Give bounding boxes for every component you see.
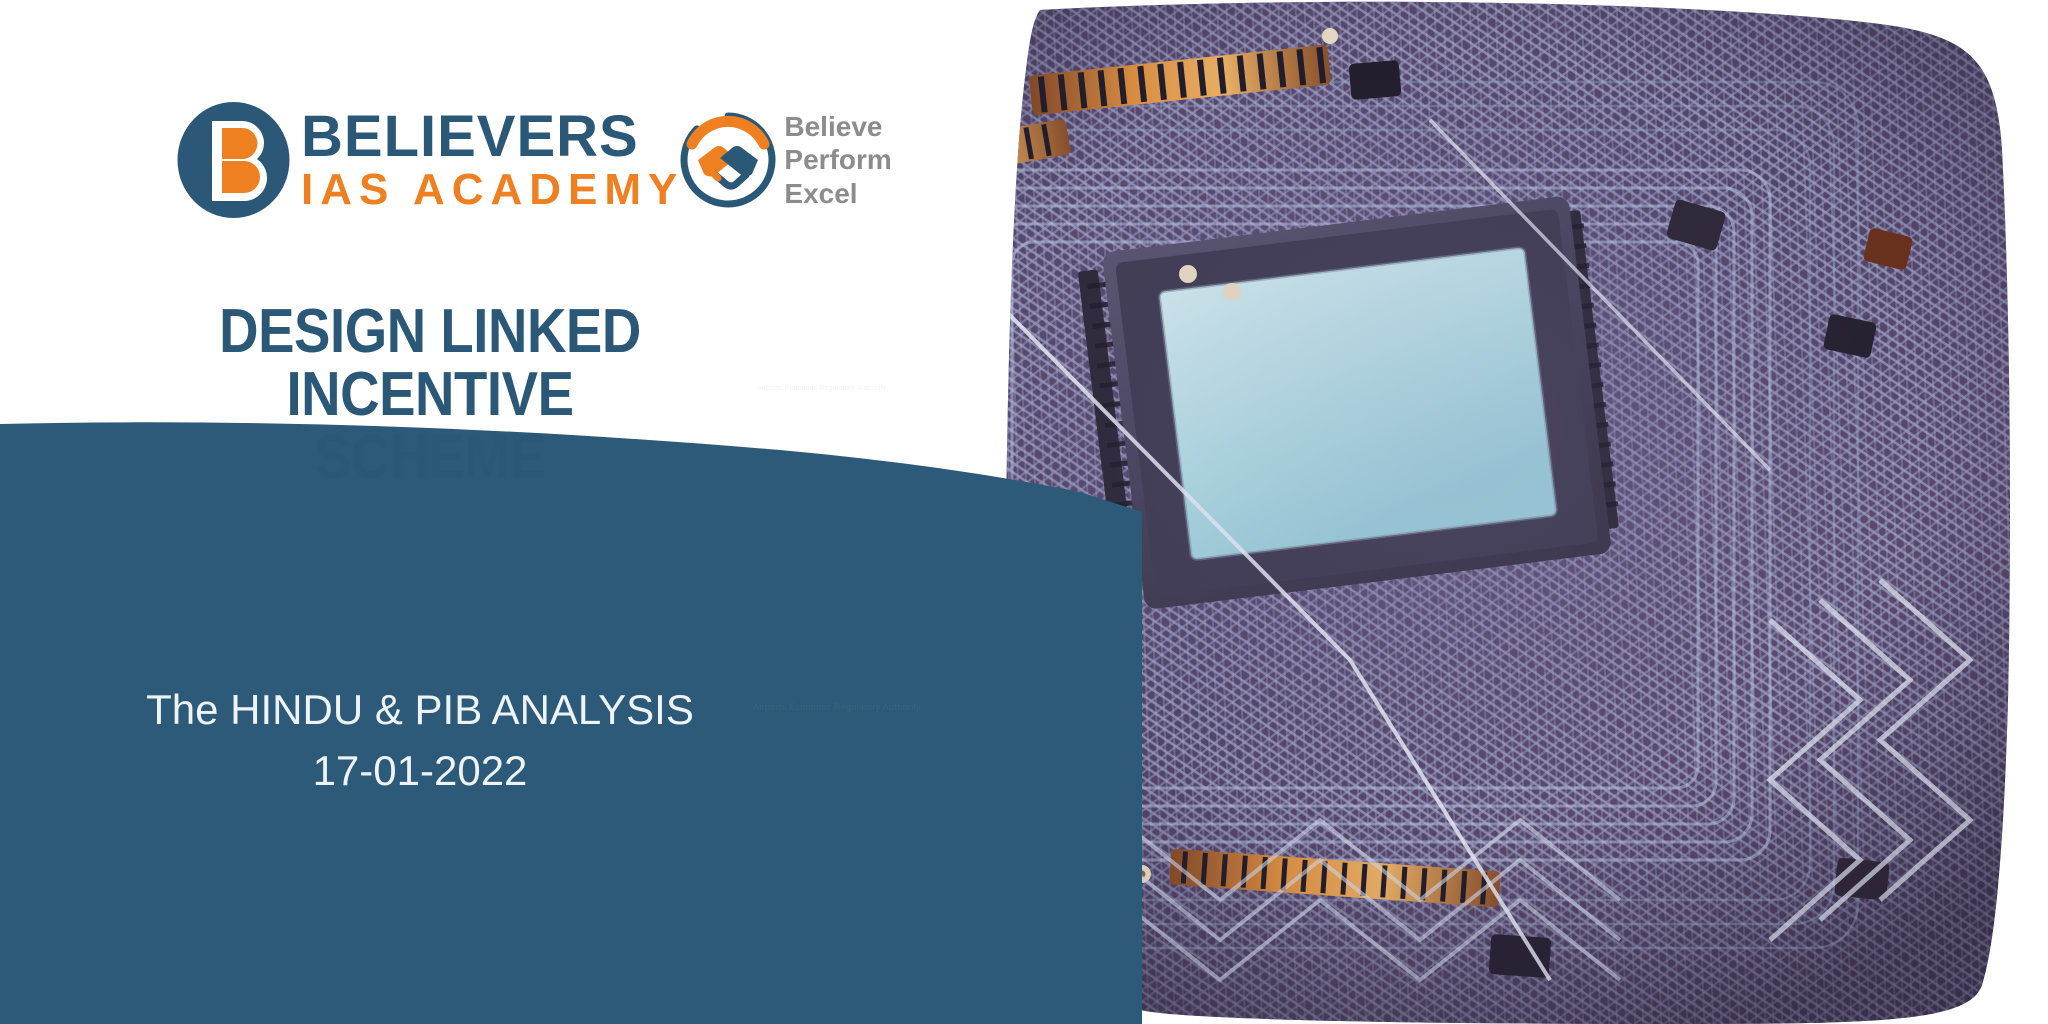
white-area-watermark-text: Airports Economic Regulatory Authority	[757, 385, 886, 392]
slide-title-line-1: DESIGN LINKED INCENTIVE	[104, 300, 755, 426]
logo-wordmark: BELIEVERS IAS ACADEMY	[301, 108, 684, 212]
circuit-board-image	[790, 0, 2048, 1024]
logo-name-secondary: IAS ACADEMY	[301, 168, 684, 212]
slide-canvas: INDIA CHINA RELATIONS BELIEVERS IAS ACAD…	[0, 0, 2048, 1024]
slide-title: DESIGN LINKED INCENTIVE SCHEME	[104, 300, 755, 490]
brand-logo: BELIEVERS IAS ACADEMY Believe Perform Ex…	[176, 100, 846, 220]
logo-tagline-line-3: Excel	[784, 177, 891, 210]
slide-title-line-2: SCHEME	[104, 426, 755, 489]
teal-area-watermark-text: Airports Economic Regulatory Authority	[753, 702, 921, 712]
logo-tagline-line-1: Believe	[784, 110, 891, 143]
handshake-icon	[678, 110, 778, 210]
subtitle-date-line: 17-01-2022	[40, 741, 800, 802]
logo-tagline: Believe Perform Excel	[784, 110, 891, 209]
subtitle-source-line: The HINDU & PIB ANALYSIS	[40, 680, 800, 741]
logo-name-primary: BELIEVERS	[301, 108, 684, 166]
board-watermark-text: INDIA CHINA RELATIONS	[1003, 505, 1106, 514]
slide-subtitle: The HINDU & PIB ANALYSIS 17-01-2022	[40, 680, 800, 802]
logo-tagline-line-2: Perform	[784, 143, 891, 176]
believers-monogram-icon	[176, 101, 291, 219]
